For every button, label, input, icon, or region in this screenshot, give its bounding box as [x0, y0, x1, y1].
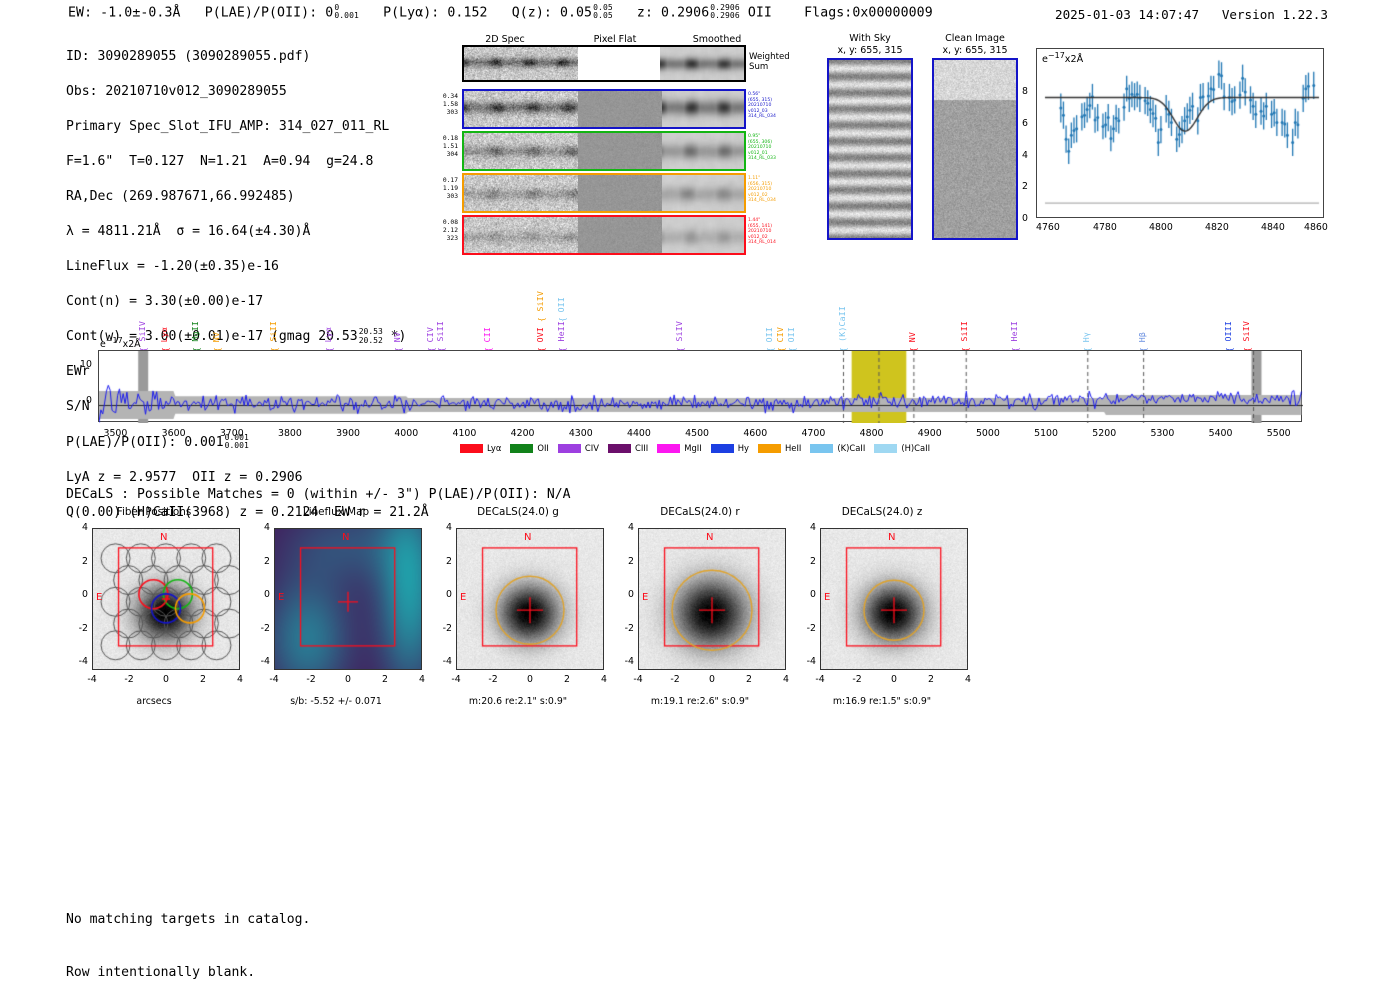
header-z-species: OII [748, 5, 772, 20]
legend-label: MgII [684, 443, 701, 453]
decals-ytick: 4 [796, 522, 816, 533]
spectrum-xtick: 4900 [913, 428, 947, 439]
decals-ytick: 0 [796, 589, 816, 600]
decals-panel-subtitle: m:19.1 re:2.6" s:0.9" [612, 696, 788, 707]
decals-panel-subtitle: m:16.9 re:1.5" s:0.9" [794, 696, 970, 707]
decals-ytick: -2 [68, 623, 88, 634]
compass-north: N [706, 532, 713, 543]
fiber-0-meta: 0.56" (655, 315) 20210710 v012_03 314_RL… [748, 92, 776, 120]
decals-ytick: 2 [432, 556, 452, 567]
line-marker-label: Hγ [1081, 332, 1091, 342]
header-flags: Flags:0x00000009 [804, 5, 933, 20]
line-fit-xtick-4800: 4800 [1149, 222, 1173, 233]
info-obs: Obs: 20210710v012_3090289055 [66, 83, 429, 101]
col-title-smoothed: Smoothed [672, 34, 762, 45]
decals-ytick: 2 [796, 556, 816, 567]
decals-ytick: 0 [250, 589, 270, 600]
legend-label: Hy [738, 443, 749, 453]
decals-xtick: 2 [191, 674, 215, 685]
decals-ytick: -4 [614, 656, 634, 667]
legend-item: CIII [608, 443, 648, 453]
decals-xtick: 0 [882, 674, 906, 685]
decals-ytick: 4 [614, 522, 634, 533]
info-lineflux: LineFlux = -1.20(±0.35)e-16 [66, 258, 429, 276]
spectrum-ytick-0: 0 [86, 395, 92, 406]
decals-ytick: -4 [250, 656, 270, 667]
footer-line-1: No matching targets in catalog. [66, 911, 310, 929]
line-marker-label: NV [907, 332, 917, 342]
spectrum-xtick: 5400 [1204, 428, 1238, 439]
spectrum-xtick: 5500 [1262, 428, 1296, 439]
decals-ytick: 4 [250, 522, 270, 533]
decals-xtick: -4 [808, 674, 832, 685]
decals-xtick: -2 [117, 674, 141, 685]
line-marker-label: CIV [425, 327, 435, 342]
decals-xtick: 0 [518, 674, 542, 685]
fiber-2-meta: 1.11" (656, 315) 20210710 v012_02 314_RL… [748, 176, 776, 204]
compass-north: N [888, 532, 895, 543]
legend-swatch [510, 444, 533, 453]
cutout-withsky-title: With Sky [820, 33, 920, 44]
col-title-2dspec: 2D Spec [460, 34, 550, 45]
compass-north: N [160, 532, 167, 543]
header-ew: EW: -1.0±-0.3Å [68, 5, 181, 20]
decals-xtick: -2 [845, 674, 869, 685]
header-summary-line: EW: -1.0±-0.3Å P(LAE)/P(OII): 000.001 P(… [68, 4, 933, 21]
line-marker-label: NV [211, 332, 221, 342]
legend-item: Lyα [460, 443, 501, 453]
line-marker-label: HeII [556, 321, 566, 342]
fiber-row-2 [462, 173, 746, 213]
legend-swatch [558, 444, 581, 453]
fiber-1-numbers: 0.18 1.51 304 [424, 135, 458, 160]
legend-swatch [758, 444, 781, 453]
compass-east: E [96, 592, 102, 603]
line-marker-label: SiII [435, 321, 445, 342]
decals-ytick: -4 [68, 656, 88, 667]
line-fit-ytick-6: 6 [1022, 118, 1028, 129]
compass-north: N [524, 532, 531, 543]
line-marker-label: CII [482, 327, 492, 342]
decals-ytick: 4 [68, 522, 88, 533]
line-marker-label: OII [556, 297, 566, 312]
decals-ytick: 2 [68, 556, 88, 567]
line-fit-xtick-4820: 4820 [1205, 222, 1229, 233]
compass-east: E [824, 592, 830, 603]
decals-header: DECaLS : Possible Matches = 0 (within +/… [66, 487, 571, 502]
legend-swatch [460, 444, 483, 453]
info-primary-spec: Primary Spec_Slot_IFU_AMP: 314_027_011_R… [66, 118, 429, 136]
spectrum-xtick: 4300 [564, 428, 598, 439]
header-qz: Q(z): 0.05 [512, 5, 592, 20]
info-redshifts: LyA z = 2.9577 OII z = 0.2906 [66, 469, 429, 487]
decals-ytick: -2 [432, 623, 452, 634]
legend-item: MgII [657, 443, 701, 453]
decals-panel-title: DECaLS(24.0) g [430, 506, 606, 518]
fiber-3-meta: 1.44" (655, 141) 20210710 v012_02 314_RL… [748, 218, 776, 246]
cutout-clean-title: Clean Image [925, 33, 1025, 44]
decals-xtick: 4 [410, 674, 434, 685]
header-timestamp-version: 2025-01-03 14:07:47 Version 1.22.3 [1055, 7, 1328, 22]
line-fit-xtick-4860: 4860 [1304, 222, 1328, 233]
line-fit-ytick-0: 0 [1022, 213, 1028, 224]
fiber-row-0 [462, 89, 746, 129]
decals-ytick: 0 [68, 589, 88, 600]
spectrum-xtick: 3700 [215, 428, 249, 439]
decals-xtick: 2 [555, 674, 579, 685]
line-fit-ytick-4: 4 [1022, 150, 1028, 161]
line-marker-label: Lyα [159, 327, 169, 342]
line-fit-plot [1036, 48, 1324, 218]
spectrum-xtick: 5000 [971, 428, 1005, 439]
spectrum-xtick: 5300 [1145, 428, 1179, 439]
compass-north: N [342, 532, 349, 543]
decals-ytick: -4 [796, 656, 816, 667]
legend-item: HeII [758, 443, 801, 453]
line-marker-label: OIII [1223, 321, 1233, 342]
decals-xtick: 2 [737, 674, 761, 685]
decals-panel-subtitle: arcsecs [66, 696, 242, 707]
emission-line-markers: SiIV{Lyα{MgII{NV{SiII{Lyα{NV{CIV{SiII{CI… [0, 278, 1400, 350]
spectrum-xtick: 4400 [622, 428, 656, 439]
line-marker-label: HeII [1009, 321, 1019, 342]
legend-item: (K)CaII [810, 443, 865, 453]
cutout-clean-subtitle: x, y: 655, 315 [925, 45, 1025, 56]
decals-ytick: -2 [614, 623, 634, 634]
cutout-clean-image [932, 58, 1018, 240]
legend-swatch [810, 444, 833, 453]
decals-xtick: 2 [919, 674, 943, 685]
line-marker-label: MgII [190, 321, 200, 342]
header-plae-label: P(LAE)/P(OII): [205, 5, 318, 20]
fiber-row-3 [462, 215, 746, 255]
spectrum-xtick: 4700 [796, 428, 830, 439]
header-qz-lo: 0.05 [593, 11, 613, 20]
decals-xtick: 0 [700, 674, 724, 685]
spectrum-xtick: 3800 [273, 428, 307, 439]
weighted-sum-label: Weighted Sum [749, 52, 790, 72]
decals-xtick: 0 [336, 674, 360, 685]
spectrum-xtick: 3500 [98, 428, 132, 439]
legend-item: CIV [558, 443, 599, 453]
decals-ytick: -2 [796, 623, 816, 634]
line-marker-label: Lyα [323, 327, 333, 342]
decals-panel-image [92, 528, 240, 670]
header-plae-value: 0 [325, 5, 333, 20]
info-id: ID: 3090289055 (3090289055.pdf) [66, 48, 429, 66]
line-fit-flux-unit: e−17x2Å [1042, 54, 1083, 65]
spectrum-x-axis: 3500360037003800390040004100420043004400… [0, 428, 1400, 444]
fiber-1-meta: 0.95" (655, 306) 20210710 v012_01 314_RL… [748, 134, 776, 162]
line-marker-label: Hβ [1137, 332, 1147, 342]
decals-panel-subtitle: m:20.6 re:2.1" s:0.9" [430, 696, 606, 707]
header-version: Version 1.22.3 [1222, 7, 1328, 22]
spectrum-ytick-10: 10 [80, 359, 92, 370]
decals-xtick: 4 [228, 674, 252, 685]
decals-xtick: -2 [299, 674, 323, 685]
decals-ytick: 2 [614, 556, 634, 567]
legend-label: OII [537, 443, 549, 453]
footer-note: No matching targets in catalog. Row inte… [66, 876, 310, 999]
info-wavelength: λ = 4811.21Å σ = 16.64(±4.30)Å [66, 223, 429, 241]
decals-panel-title: Fiber Positions [66, 506, 242, 518]
line-marker-label: SiIV [1241, 321, 1251, 342]
line-marker-label: SiII [959, 321, 969, 342]
decals-xtick: 4 [592, 674, 616, 685]
line-marker-label: OVI [535, 327, 545, 342]
decals-panel-image [456, 528, 604, 670]
decals-panel-image [274, 528, 422, 670]
decals-panel-title: DECaLS(24.0) z [794, 506, 970, 518]
decals-ytick: 0 [432, 589, 452, 600]
line-marker-label: SiIV [674, 321, 684, 342]
spectrum-xtick: 3600 [157, 428, 191, 439]
decals-ytick: 0 [614, 589, 634, 600]
spectrum-xtick: 4500 [680, 428, 714, 439]
line-marker-label: SiIV [535, 291, 545, 312]
line-marker-label: NV [392, 332, 402, 342]
decals-xtick: -4 [626, 674, 650, 685]
compass-east: E [278, 592, 284, 603]
header-plae-lo: 0.001 [334, 11, 359, 20]
spectrum-xtick: 5100 [1029, 428, 1063, 439]
spectrum-xtick: 4200 [506, 428, 540, 439]
decals-xtick: 2 [373, 674, 397, 685]
legend-item: Hy [711, 443, 749, 453]
line-fit-xtick-4780: 4780 [1093, 222, 1117, 233]
fiber-2-numbers: 0.17 1.19 303 [424, 177, 458, 202]
line-marker-bracket: { [536, 317, 546, 322]
spectrum-xtick: 5200 [1087, 428, 1121, 439]
decals-xtick: -2 [663, 674, 687, 685]
legend-label: (K)CaII [837, 443, 865, 453]
spectrum-xtick: 4100 [447, 428, 481, 439]
legend-label: CIV [585, 443, 599, 453]
info-seeing: F=1.6" T=0.127 N=1.21 A=0.94 g=24.8 [66, 153, 429, 171]
decals-xtick: 0 [154, 674, 178, 685]
legend-swatch [608, 444, 631, 453]
legend-label: HeII [785, 443, 801, 453]
footer-line-2: Row intentionally blank. [66, 964, 310, 982]
decals-xtick: 4 [774, 674, 798, 685]
decals-ytick: -4 [432, 656, 452, 667]
spectrum-xtick: 4800 [855, 428, 889, 439]
decals-panel-title: Lineflux Map [248, 506, 424, 518]
fiber-3-numbers: 0.08 2.12 323 [424, 219, 458, 244]
spectrum-legend: LyαOIICIVCIIIMgIIHyHeII(K)CaII(H)CaII [460, 443, 939, 453]
spectrum-xtick: 4600 [738, 428, 772, 439]
decals-ytick: 4 [432, 522, 452, 533]
line-fit-xtick-4840: 4840 [1261, 222, 1285, 233]
fiber-0-numbers: 0.34 1.58 303 [424, 93, 458, 118]
col-title-pixelflat: Pixel Flat [570, 34, 660, 45]
cutout-withsky-image [827, 58, 913, 240]
line-marker-label: OII [786, 327, 796, 342]
line-marker-label: (K)CaII [837, 306, 847, 342]
cutout-withsky-subtitle: x, y: 655, 315 [820, 45, 920, 56]
header-plya: P(Lyα): 0.152 [383, 5, 488, 20]
legend-label: CIII [635, 443, 648, 453]
line-fit-ytick-2: 2 [1022, 181, 1028, 192]
line-marker-label: CIV [775, 327, 785, 342]
legend-swatch [657, 444, 680, 453]
weighted-sum-strip [462, 45, 746, 82]
legend-swatch [711, 444, 734, 453]
legend-item: OII [510, 443, 549, 453]
legend-label: (H)CaII [901, 443, 930, 453]
decals-panel-subtitle: s/b: -5.52 +/- 0.071 [248, 696, 424, 707]
info-radec: RA,Dec (269.987671,66.992485) [66, 188, 429, 206]
spectrum-flux-unit: e−17x2Å [100, 339, 141, 350]
compass-east: E [642, 592, 648, 603]
spectrum-xtick: 3900 [331, 428, 365, 439]
decals-panel-title: DECaLS(24.0) r [612, 506, 788, 518]
line-marker-bracket: { [557, 317, 567, 322]
compass-east: E [460, 592, 466, 603]
line-marker-label: OII [764, 327, 774, 342]
legend-label: Lyα [487, 443, 501, 453]
legend-item: (H)CaII [874, 443, 930, 453]
decals-xtick: -2 [481, 674, 505, 685]
full-spectrum-plot [98, 350, 1302, 422]
decals-panel-image [638, 528, 786, 670]
decals-xtick: -4 [262, 674, 286, 685]
line-fit-ytick-8: 8 [1022, 86, 1028, 97]
header-z-lo: 0.2906 [710, 11, 740, 20]
header-timestamp: 2025-01-03 14:07:47 [1055, 7, 1199, 22]
fiber-row-1 [462, 131, 746, 171]
spectrum-xtick: 4000 [389, 428, 423, 439]
decals-xtick: -4 [80, 674, 104, 685]
line-fit-xtick-4760: 4760 [1036, 222, 1060, 233]
decals-panel-image [820, 528, 968, 670]
header-z: z: 0.2906 [637, 5, 709, 20]
decals-xtick: 4 [956, 674, 980, 685]
decals-xtick: -4 [444, 674, 468, 685]
decals-ytick: 2 [250, 556, 270, 567]
legend-swatch [874, 444, 897, 453]
decals-ytick: -2 [250, 623, 270, 634]
line-marker-label: SiII [268, 321, 278, 342]
